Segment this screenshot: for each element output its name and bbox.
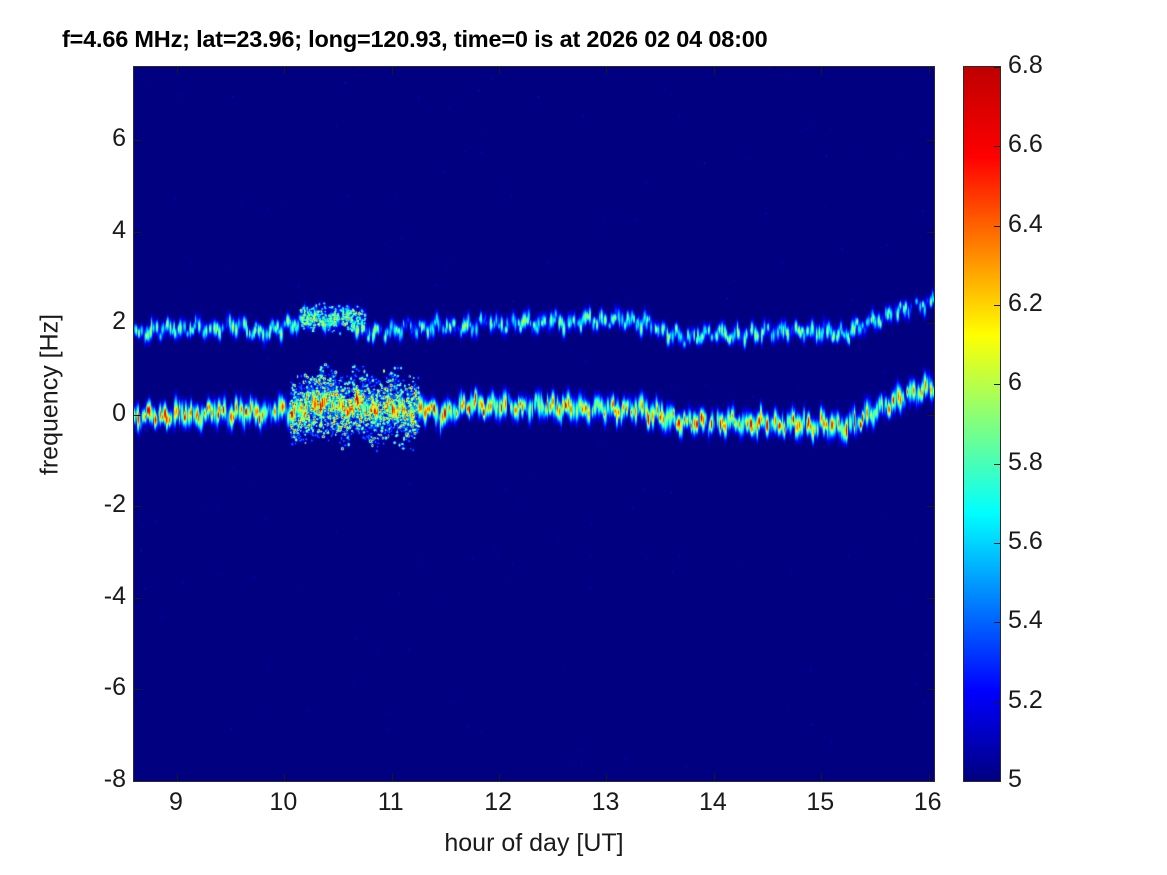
colorbar-tick — [994, 305, 1000, 306]
y-tick-label: 6 — [66, 126, 126, 151]
colorbar-tick-label: 5.6 — [1008, 529, 1043, 554]
x-tick-label: 16 — [888, 790, 968, 815]
y-axis-tick — [134, 415, 141, 416]
x-tick-label: 9 — [136, 790, 216, 815]
x-axis-tick — [929, 774, 930, 781]
x-axis-tick-top — [929, 67, 930, 74]
colorbar-tick-label: 6.8 — [1008, 53, 1043, 78]
y-axis-tick — [134, 232, 141, 233]
colorbar-tick-label: 5 — [1008, 767, 1022, 792]
x-axis-tick — [284, 774, 285, 781]
x-tick-label: 14 — [673, 790, 753, 815]
colorbar-tick-label: 5.4 — [1008, 608, 1043, 633]
colorbar-gradient — [964, 67, 1000, 781]
colorbar-tick — [994, 622, 1000, 623]
y-axis-title: frequency [Hz] — [36, 285, 65, 505]
colorbar[interactable] — [963, 66, 1001, 782]
y-tick-label: 4 — [66, 218, 126, 243]
colorbar-tick — [994, 226, 1000, 227]
colorbar-tick — [994, 67, 1000, 68]
x-axis-tick-top — [714, 67, 715, 74]
y-tick-label: -8 — [66, 767, 126, 792]
y-axis-tick-right — [927, 506, 934, 507]
y-axis-tick-labels: -8-6-4-20246 — [58, 0, 126, 875]
x-axis-tick — [392, 774, 393, 781]
spectrogram-image — [134, 67, 934, 781]
y-tick-label: -2 — [66, 492, 126, 517]
colorbar-tick — [994, 464, 1000, 465]
y-axis-tick-right — [927, 323, 934, 324]
colorbar-tick-label: 6.2 — [1008, 291, 1043, 316]
y-axis-tick-right — [927, 415, 934, 416]
colorbar-tick — [994, 702, 1000, 703]
x-axis-tick — [606, 774, 607, 781]
colorbar-tick-label: 5.2 — [1008, 688, 1043, 713]
x-tick-label: 12 — [458, 790, 538, 815]
y-tick-label: -4 — [66, 584, 126, 609]
colorbar-tick-label: 5.8 — [1008, 450, 1043, 475]
x-axis-title: hour of day [UT] — [133, 829, 935, 858]
y-axis-tick-right — [927, 689, 934, 690]
y-axis-tick — [134, 781, 141, 782]
colorbar-tick — [994, 543, 1000, 544]
x-tick-label: 15 — [780, 790, 860, 815]
page-title: f=4.66 MHz; lat=23.96; long=120.93, time… — [62, 26, 1022, 53]
x-tick-label: 10 — [243, 790, 323, 815]
y-axis-tick — [134, 689, 141, 690]
x-tick-label: 13 — [565, 790, 645, 815]
x-axis-tick-top — [499, 67, 500, 74]
x-axis-tick — [714, 774, 715, 781]
y-axis-tick-right — [927, 140, 934, 141]
x-axis-tick-top — [392, 67, 393, 74]
x-axis-tick — [821, 774, 822, 781]
y-tick-label: 0 — [66, 401, 126, 426]
y-tick-label: 2 — [66, 309, 126, 334]
colorbar-tick — [994, 146, 1000, 147]
x-axis-tick — [177, 774, 178, 781]
x-axis-tick — [499, 774, 500, 781]
x-axis-tick-top — [821, 67, 822, 74]
y-axis-tick-right — [927, 598, 934, 599]
y-axis-tick — [134, 598, 141, 599]
y-axis-tick — [134, 323, 141, 324]
spectrogram-axes[interactable] — [133, 66, 935, 782]
colorbar-tick-labels: 55.25.45.65.866.26.46.66.8 — [1008, 0, 1128, 875]
y-tick-label: -6 — [66, 675, 126, 700]
x-tick-label: 11 — [351, 790, 431, 815]
y-axis-tick-right — [927, 781, 934, 782]
colorbar-tick-label: 6.6 — [1008, 132, 1043, 157]
y-axis-tick — [134, 506, 141, 507]
x-axis-tick-labels: 910111213141516 — [0, 790, 1167, 830]
figure-panel: f=4.66 MHz; lat=23.96; long=120.93, time… — [0, 0, 1167, 875]
x-axis-tick-top — [606, 67, 607, 74]
colorbar-tick-label: 6 — [1008, 370, 1022, 395]
y-axis-tick — [134, 140, 141, 141]
colorbar-tick — [994, 384, 1000, 385]
x-axis-tick-top — [177, 67, 178, 74]
x-axis-tick-top — [284, 67, 285, 74]
y-axis-tick-right — [927, 232, 934, 233]
colorbar-tick-label: 6.4 — [1008, 212, 1043, 237]
